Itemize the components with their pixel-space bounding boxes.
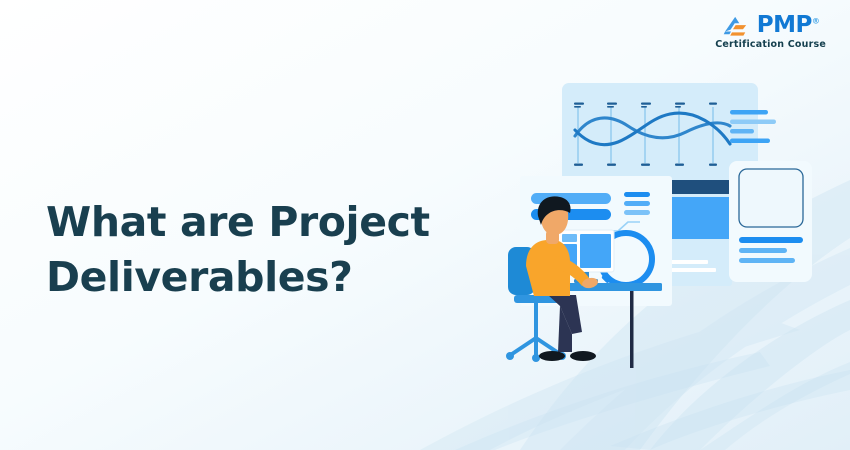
brand-logo[interactable]: PMP® Certification Course xyxy=(715,14,826,50)
page-title: What are Project Deliverables? xyxy=(46,195,476,303)
logo-wordmark-text: PMP xyxy=(757,12,812,38)
card-menu-lines xyxy=(624,192,650,215)
hero-illustration xyxy=(490,70,830,390)
logo-superscript: ® xyxy=(812,16,820,25)
logo-wordmark: PMP® xyxy=(757,14,820,37)
logo-tagline: Certification Course xyxy=(715,40,826,50)
preview-card xyxy=(729,161,812,282)
banner-root: PMP® Certification Course What are Proje… xyxy=(0,0,850,450)
wave-chart-panel xyxy=(562,83,758,185)
content-card xyxy=(662,178,732,286)
pmp-triangle-mark-icon xyxy=(722,15,752,37)
logo-row: PMP® xyxy=(722,14,820,37)
